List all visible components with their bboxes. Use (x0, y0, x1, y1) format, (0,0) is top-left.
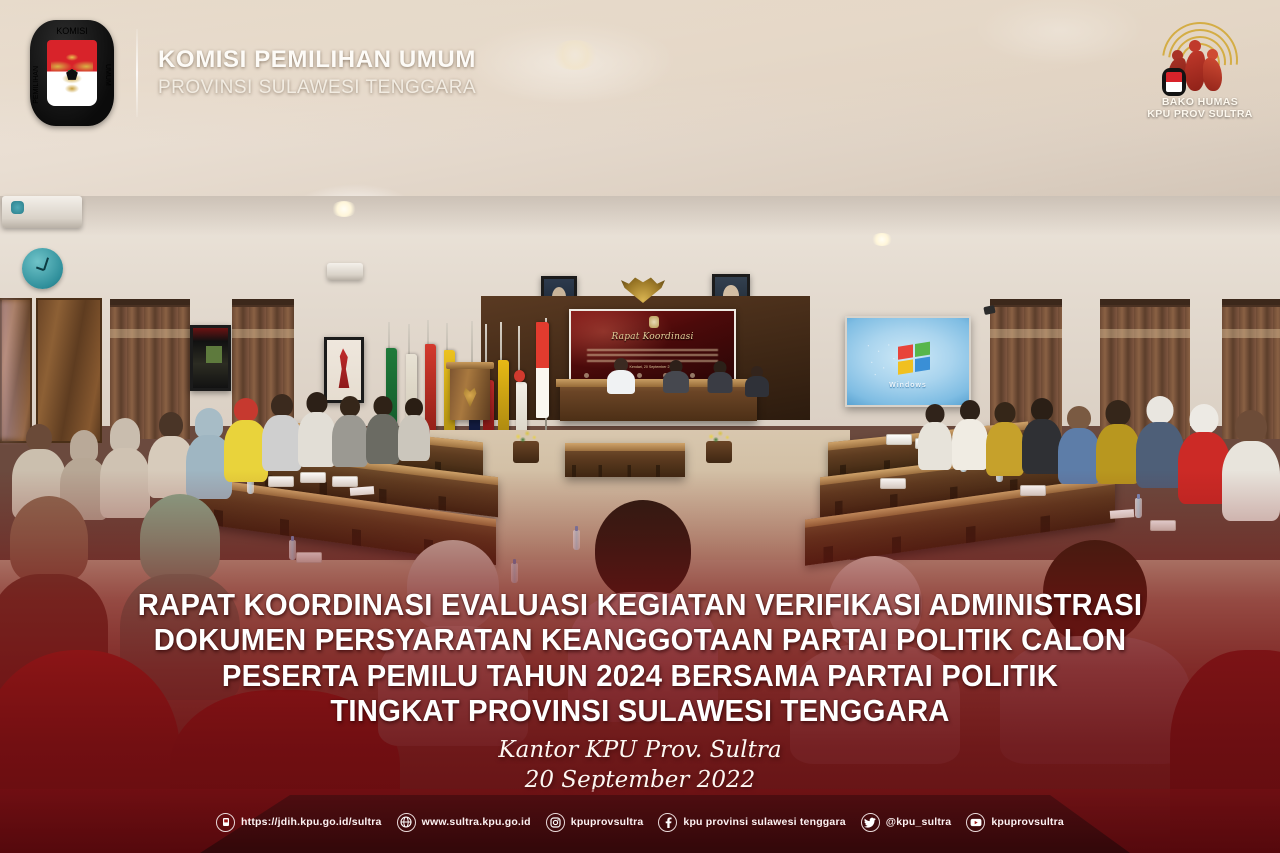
banner-text-line (587, 354, 717, 356)
wall-poster-frame (190, 325, 231, 391)
footer-item-twitter[interactable]: @kpu_sultra (861, 813, 952, 832)
attendee (918, 404, 952, 466)
projector-screen: Windows (845, 316, 971, 407)
footer-item-label: kpuprovsultra (991, 816, 1064, 828)
organization-name: KOMISI PEMILIHAN UMUM (158, 46, 476, 74)
mini-kpu-emblem-icon (1162, 68, 1186, 96)
attendee (1096, 400, 1140, 480)
organization-province: PROVINSI SULAWESI TENGGARA (158, 77, 476, 99)
attendee (986, 402, 1024, 472)
header-divider (136, 29, 138, 117)
footer-item-website[interactable]: www.sultra.kpu.go.id (397, 813, 531, 832)
wooden-door (36, 298, 102, 443)
bako-logo-line2: KPU PROV SULTRA (1140, 108, 1260, 120)
youtube-icon (966, 813, 985, 832)
head-table-official (745, 366, 769, 396)
flower-vase (706, 441, 732, 463)
banner-script-title: Rapat Koordinasi (571, 332, 734, 342)
ac-badge-icon (11, 201, 24, 214)
speaker-podium (450, 362, 490, 420)
attendee (262, 394, 302, 468)
footer-item-label: kpu provinsi sulawesi tenggara (683, 816, 845, 828)
attendee-foreground (1000, 540, 1190, 740)
snack-box (332, 476, 358, 487)
banner-text-line (587, 349, 717, 351)
kpu-emblem-top-text: KOMISI (30, 26, 114, 36)
footer-item-label: www.sultra.kpu.go.id (422, 816, 531, 828)
jdih-book-icon (216, 813, 235, 832)
snack-box (886, 434, 912, 445)
attendee (398, 398, 430, 458)
attendee (332, 396, 368, 464)
water-bottle (289, 540, 296, 560)
footer-item-label: @kpu_sultra (886, 816, 952, 828)
attendee (1222, 410, 1280, 516)
flower-arrangement (706, 427, 732, 443)
footer-item-youtube[interactable]: kpuprovsultra (966, 813, 1064, 832)
twitter-icon (861, 813, 880, 832)
ceiling-light-icon (331, 201, 357, 217)
flower-vase (513, 441, 539, 463)
bako-logo-line1: BAKO HUMAS (1140, 96, 1260, 108)
attendee (366, 396, 400, 460)
head-table-official (707, 361, 732, 392)
attendee (952, 400, 988, 466)
attendee (298, 392, 336, 464)
globe-icon (397, 813, 416, 832)
garuda-bird-icon (51, 50, 93, 96)
head-table-official (663, 360, 689, 392)
water-bottle (1135, 498, 1142, 518)
wall-clock-icon (22, 248, 63, 289)
garuda-shield-icon (47, 40, 97, 106)
footer-item-label: kpuprovsultra (571, 816, 644, 828)
footer-item-jdih[interactable]: https://jdih.kpu.go.id/sultra (216, 813, 382, 832)
footer-item-instagram[interactable]: kpuprovsultra (546, 813, 644, 832)
attendee (1058, 406, 1100, 480)
wall-shadow (0, 196, 1280, 236)
front-table (565, 443, 685, 477)
windows-wordmark: Windows (847, 382, 969, 389)
windows-logo-flecks (865, 342, 899, 379)
footer-bar: https://jdih.kpu.go.id/sultra www.sultra… (0, 789, 1280, 853)
footer-item-facebook[interactable]: kpu provinsi sulawesi tenggara (658, 813, 845, 832)
snack-box (1020, 485, 1046, 496)
air-conditioner-unit (2, 196, 82, 228)
banner-emblem-icon (649, 316, 659, 328)
event-banner-graphic: Rapat Koordinasi Kendari, 20 September 2… (0, 0, 1280, 853)
document-paper (350, 486, 374, 496)
snack-box (300, 472, 326, 483)
banner-header: KOMISI PEMILIHAN UMUM KOMISI PEMILIHAN U… (0, 0, 1280, 145)
attendee (1022, 398, 1062, 470)
kpu-emblem-left-text: PEMILIHAN (33, 66, 40, 104)
snack-box (880, 478, 906, 489)
bako-humas-logo: BAKO HUMAS KPU PROV SULTRA (1140, 12, 1260, 124)
document-paper (1110, 509, 1134, 519)
head-table-speaker (607, 358, 635, 392)
organization-titles: KOMISI PEMILIHAN UMUM PROVINSI SULAWESI … (158, 46, 476, 99)
air-conditioner-unit (327, 263, 363, 280)
flower-arrangement (513, 427, 539, 443)
footer-contact-list: https://jdih.kpu.go.id/sultra www.sultra… (0, 795, 1280, 853)
facebook-icon (658, 813, 677, 832)
attendee-foreground (790, 556, 960, 746)
kpu-emblem-icon: KOMISI PEMILIHAN UMUM (30, 20, 114, 126)
door-light-glare (0, 300, 34, 440)
kpu-emblem-right-text: UMUM (104, 64, 111, 86)
windows-logo-icon (898, 341, 932, 376)
banner-sponsor-logos (584, 373, 721, 378)
attendee-foreground (378, 540, 528, 730)
snack-box (1150, 520, 1176, 531)
snack-box (268, 476, 294, 487)
attendee-foreground-center (568, 500, 718, 700)
podium-emblem-icon (462, 384, 478, 407)
attendee (1136, 396, 1184, 484)
ceiling-light-icon (871, 233, 893, 246)
footer-item-label: https://jdih.kpu.go.id/sultra (241, 816, 382, 828)
snack-box (296, 552, 322, 563)
instagram-icon (546, 813, 565, 832)
